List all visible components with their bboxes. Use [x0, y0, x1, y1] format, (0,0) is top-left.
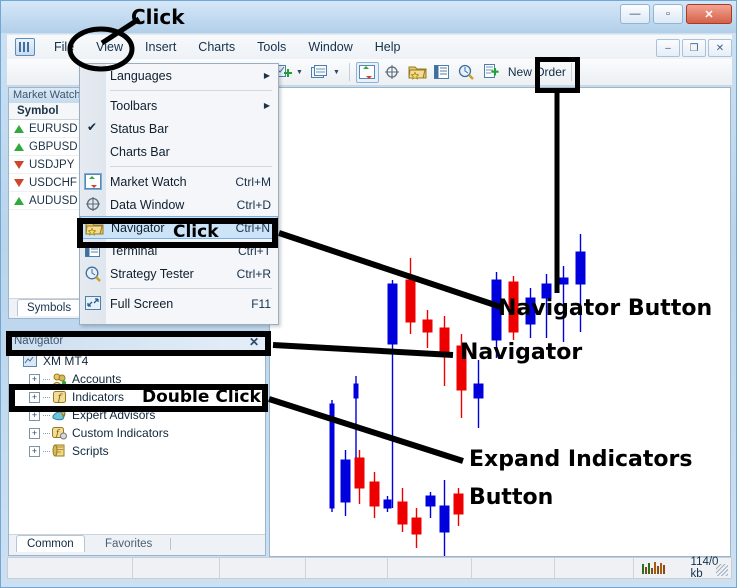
tree-connector	[43, 451, 50, 452]
tree-connector	[43, 397, 50, 398]
window-close-button[interactable]: ✕	[686, 4, 732, 24]
price-chart-window[interactable]	[269, 87, 731, 557]
menu-label: Toolbars	[110, 99, 157, 113]
menu-label: Market Watch	[110, 175, 187, 189]
tab-favorites[interactable]: Favorites	[95, 536, 162, 552]
toolbar-separator	[571, 63, 572, 81]
menu-shortcut: F11	[251, 297, 271, 311]
symbol-label: AUDUSD	[29, 195, 78, 207]
navigator-caption-bar: Navigator ✕	[9, 333, 265, 350]
menu-item-charts[interactable]: Charts	[187, 37, 246, 57]
tree-item-scripts[interactable]: + Scripts	[15, 442, 265, 460]
mdi-window-controls: – ❐ ✕	[656, 39, 732, 57]
navigator-tab-strip: Common Favorites	[9, 534, 265, 555]
menu-label: Navigator	[111, 221, 165, 235]
menu-shortcut: Ctrl+D	[237, 198, 271, 212]
market-watch-button[interactable]	[356, 62, 379, 83]
resize-grip[interactable]	[716, 564, 728, 576]
menu-shortcut: Ctrl+T	[238, 244, 271, 258]
tree-item-accounts[interactable]: + Accounts	[15, 370, 265, 388]
menu-shortcut: Ctrl+N	[236, 221, 270, 235]
mdi-minimize-button[interactable]: –	[656, 39, 680, 57]
check-icon: ✔	[87, 120, 97, 134]
terminal-button[interactable]	[431, 62, 454, 83]
arrow-up-icon	[14, 197, 24, 205]
arrow-down-icon	[14, 179, 24, 187]
menu-item-full-screen[interactable]: Full Screen F11	[80, 292, 278, 315]
tree-item-label: Accounts	[72, 372, 121, 386]
menu-label: Data Window	[110, 198, 184, 212]
navigator-button[interactable]	[406, 62, 429, 83]
strategy-tester-icon	[84, 265, 102, 282]
candlestick-series	[270, 88, 730, 556]
arrow-down-icon	[14, 161, 24, 169]
custom-indicators-icon: f	[52, 426, 67, 440]
arrow-up-icon	[14, 143, 24, 151]
tree-item-label: Scripts	[72, 444, 109, 458]
menu-item-insert[interactable]: Insert	[134, 37, 187, 57]
menu-item-data-window[interactable]: Data Window Ctrl+D	[80, 193, 278, 216]
traffic-indicator-icon	[642, 562, 665, 574]
indicators-icon: f	[52, 390, 67, 404]
toolbar-separator	[349, 63, 350, 81]
tree-item-custom-indicators[interactable]: + f Custom Indicators	[15, 424, 265, 442]
close-icon[interactable]: ✕	[249, 334, 259, 351]
data-window-button[interactable]	[381, 62, 404, 83]
tree-connector	[43, 379, 50, 380]
menu-item-tools[interactable]: Tools	[246, 37, 297, 57]
data-window-icon	[84, 196, 102, 213]
tree-item-xm-mt4[interactable]: XM MT4	[15, 352, 265, 370]
tree-item-label: Expert Advisors	[72, 408, 155, 422]
expand-icon[interactable]: +	[29, 410, 40, 421]
navigator-title: Navigator	[14, 335, 63, 347]
view-dropdown-menu: Languages ▶ Toolbars ▶ ✔ Status Bar Char…	[79, 63, 279, 325]
menu-item-view[interactable]: View	[85, 37, 134, 57]
menu-label: Strategy Tester	[110, 267, 194, 281]
chevron-right-icon: ▶	[264, 101, 270, 110]
menu-item-market-watch[interactable]: Market Watch Ctrl+M	[80, 170, 278, 193]
strategy-tester-button[interactable]	[456, 62, 479, 83]
menu-label: Languages	[110, 69, 172, 83]
menu-label: Status Bar	[110, 122, 168, 136]
symbol-label: USDCHF	[29, 177, 77, 189]
mdi-close-button[interactable]: ✕	[708, 39, 732, 57]
navigator-panel: Navigator ✕ XM MT4 +	[8, 332, 266, 556]
menu-item-languages[interactable]: Languages ▶	[80, 64, 278, 87]
full-screen-icon	[84, 295, 102, 312]
menu-item-status-bar[interactable]: ✔ Status Bar	[80, 117, 278, 140]
tree-item-label: XM MT4	[43, 354, 88, 368]
window-maximize-button[interactable]: ▫	[653, 4, 683, 24]
status-bar: 114/0 kb	[7, 557, 732, 579]
tab-common[interactable]: Common	[16, 535, 85, 552]
chevron-down-icon[interactable]: ▼	[296, 69, 303, 76]
menu-shortcut: Ctrl+M	[235, 175, 271, 189]
expand-icon[interactable]: +	[29, 392, 40, 403]
new-order-button[interactable]	[481, 62, 504, 83]
scripts-icon	[52, 444, 67, 458]
symbol-label: EURUSD	[29, 123, 78, 135]
mdi-restore-button[interactable]: ❐	[682, 39, 706, 57]
menu-label: Terminal	[110, 244, 157, 258]
new-order-label[interactable]: New Order	[508, 65, 566, 79]
profiles-button[interactable]	[308, 62, 331, 83]
menu-item-charts-bar[interactable]: Charts Bar	[80, 140, 278, 163]
market-watch-icon	[84, 173, 102, 190]
menu-bar: File View Insert Charts Tools Window Hel…	[7, 34, 732, 59]
expand-icon[interactable]: +	[29, 374, 40, 385]
menu-separator	[110, 288, 272, 289]
menu-item-navigator[interactable]: Navigator Ctrl+N	[80, 216, 278, 239]
tree-connector	[43, 415, 50, 416]
menu-item-help[interactable]: Help	[364, 37, 412, 57]
terminal-icon	[84, 242, 102, 259]
tree-item-label: Indicators	[72, 390, 124, 404]
menu-separator	[110, 90, 272, 91]
tab-symbols[interactable]: Symbols	[17, 299, 81, 316]
menu-item-terminal[interactable]: Terminal Ctrl+T	[80, 239, 278, 262]
menu-separator	[110, 166, 272, 167]
tree-item-expert-advisors[interactable]: + Expert Advisors	[15, 406, 265, 424]
accounts-icon	[52, 372, 67, 386]
tree-item-label: Custom Indicators	[72, 426, 169, 440]
window-controls: — ▫ ✕	[620, 4, 732, 24]
symbol-label: USDJPY	[29, 159, 74, 171]
menu-shortcut: Ctrl+R	[237, 267, 271, 281]
tree-item-indicators[interactable]: + f Indicators	[15, 388, 265, 406]
expand-icon[interactable]: +	[29, 428, 40, 439]
menu-item-window[interactable]: Window	[297, 37, 363, 57]
menu-item-file[interactable]: File	[43, 37, 85, 57]
expert-advisors-icon	[52, 408, 67, 422]
tree-connector	[43, 433, 50, 434]
mt4-application-window: — ▫ ✕ File View Insert Charts Tools Wind…	[0, 0, 737, 588]
menu-label: Charts Bar	[110, 145, 170, 159]
terminal-root-icon	[23, 354, 38, 368]
menu-item-strategy-tester[interactable]: Strategy Tester Ctrl+R	[80, 262, 278, 285]
chevron-right-icon: ▶	[264, 71, 270, 80]
tab-divider	[170, 538, 171, 550]
application-logo-icon	[15, 38, 35, 56]
window-title-bar: — ▫ ✕	[1, 1, 737, 33]
chevron-down-icon[interactable]: ▼	[333, 69, 340, 76]
arrow-up-icon	[14, 125, 24, 133]
navigator-folder-star-icon	[85, 220, 103, 237]
menu-item-toolbars[interactable]: Toolbars ▶	[80, 94, 278, 117]
window-minimize-button[interactable]: —	[620, 4, 650, 24]
symbol-label: GBPUSD	[29, 141, 78, 153]
menu-label: Full Screen	[110, 297, 173, 311]
expand-icon[interactable]: +	[29, 446, 40, 457]
